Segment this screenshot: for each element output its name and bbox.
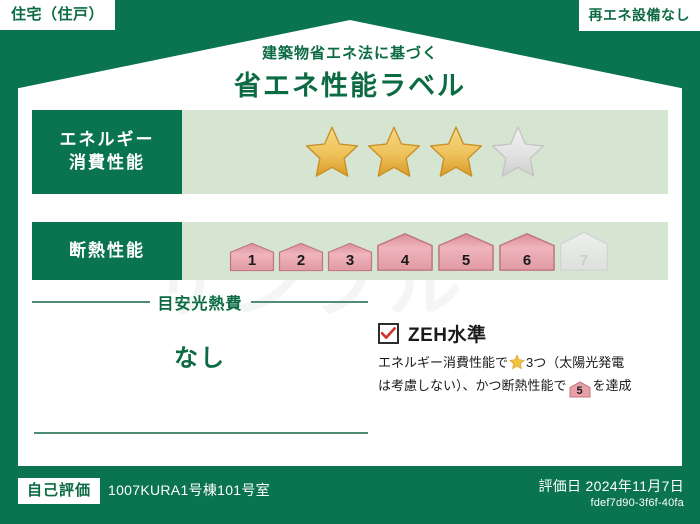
insulation-level-3: 3 (327, 242, 373, 272)
insulation-level-6: 6 (498, 232, 556, 272)
insulation-level-5: 5 (437, 232, 495, 272)
star-filled-icon (428, 125, 484, 179)
star-rating (304, 125, 546, 179)
insulation-level-value: 5 (569, 381, 591, 401)
insulation-level-badge: 5 (569, 381, 591, 398)
cost-rule-right (251, 301, 369, 303)
star-empty-icon (490, 125, 546, 179)
star-filled-icon (366, 125, 422, 179)
cost-divider-bottom (34, 432, 368, 434)
unit-name: 1007KURA1号棟101号室 (108, 480, 270, 500)
building-type-tag: 住宅（住戸） (0, 0, 115, 30)
insulation-level-label: 6 (523, 252, 531, 272)
zeh-desc-part2: は考慮しない）、かつ断熱性能で (378, 378, 567, 393)
label-subtitle: 建築物省エネ法に基づく (0, 42, 700, 63)
insulation-label-line1: 断熱性能 (69, 240, 145, 263)
energy-label-line2: 消費性能 (69, 152, 145, 175)
insulation-level-label: 4 (401, 252, 409, 272)
zeh-desc-part3: を達成 (593, 378, 632, 393)
evaluation-date: 評価日 2024年11月7日 (538, 476, 684, 496)
insulation-level-7: 7 (559, 230, 609, 272)
renewable-energy-tag: 再エネ設備なし (579, 0, 700, 31)
insulation-level-2: 2 (278, 242, 324, 272)
zeh-desc-star-count: 3つ（太陽光発電 (526, 355, 624, 370)
insulation-level-4: 4 (376, 232, 434, 272)
energy-label-line1: エネルギー (60, 129, 155, 152)
energy-stars-area (182, 110, 668, 194)
insulation-performance-label: 断熱性能 (32, 222, 182, 280)
insulation-level-label: 7 (580, 252, 588, 272)
utility-cost-title: 目安光熱費 (158, 290, 243, 314)
utility-cost-value: なし (32, 338, 368, 373)
self-evaluation-badge: 自己評価 (18, 478, 100, 504)
zeh-description: エネルギー消費性能で3つ（太陽光発電 は考慮しない）、かつ断熱性能で5を達成 (378, 352, 670, 398)
energy-performance-row: エネルギー 消費性能 (32, 110, 668, 194)
insulation-level-label: 5 (462, 252, 470, 272)
cost-rule-left (32, 301, 150, 303)
insulation-scale-area: 1234567 (182, 222, 668, 280)
insulation-level-label: 1 (248, 252, 256, 272)
insulation-level-scale: 1234567 (229, 230, 621, 272)
zeh-header: ZEH水準 (378, 320, 487, 347)
zeh-checkbox[interactable] (378, 323, 399, 344)
label-title: 省エネ性能ラベル (0, 64, 700, 103)
check-icon (381, 327, 396, 340)
insulation-level-1: 1 (229, 242, 275, 272)
insulation-performance-row: 断熱性能 1234567 (32, 222, 668, 280)
energy-label-card: サンプル 住宅（住戸） 再エネ設備なし 建築物省エネ法に基づく 省エネ性能ラベル… (0, 0, 700, 524)
insulation-level-label: 2 (297, 252, 305, 272)
star-icon (509, 354, 525, 370)
evaluation-id: fdef7d90-3f6f-40fa (590, 497, 684, 509)
zeh-title: ZEH水準 (408, 320, 487, 347)
utility-cost-header: 目安光熱費 (32, 290, 368, 314)
label-footer: 自己評価 1007KURA1号棟101号室 評価日 2024年11月7日 fde… (0, 466, 700, 524)
zeh-desc-part1: エネルギー消費性能で (378, 355, 508, 370)
insulation-level-label: 3 (346, 252, 354, 272)
star-filled-icon (304, 125, 360, 179)
energy-performance-label: エネルギー 消費性能 (32, 110, 182, 194)
